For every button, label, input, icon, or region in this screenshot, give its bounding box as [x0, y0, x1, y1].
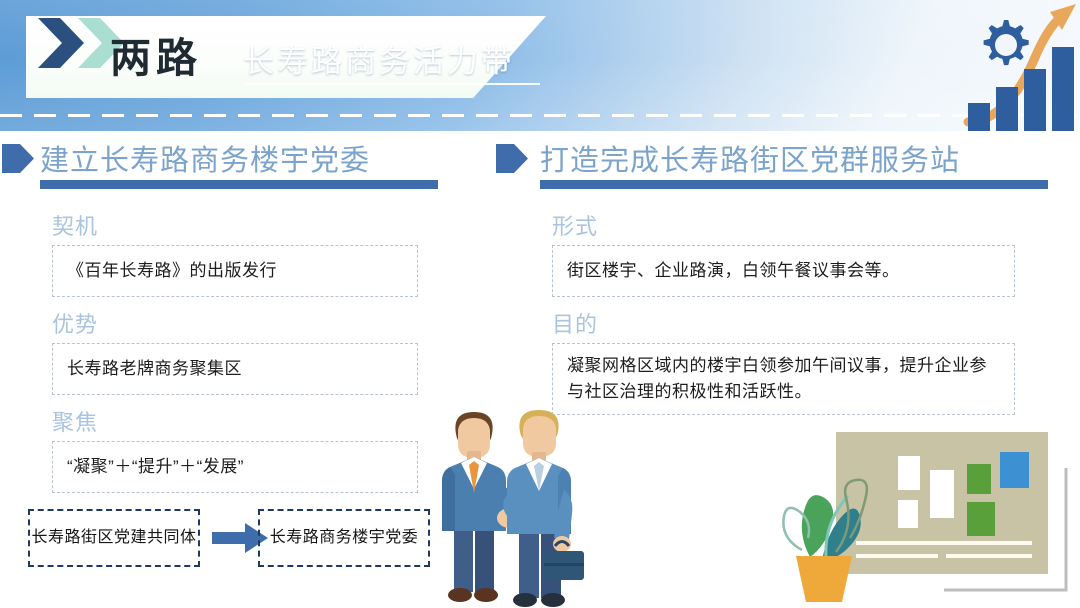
section-text-mude: 凝聚网格区域内的楼宇白领参加午间议事，提升企业参与社区治理的积极性和活跃性。	[553, 353, 1014, 406]
section-box-qiji: 《百年长寿路》的出版发行	[52, 245, 418, 297]
section-label-jujiao: 聚焦	[52, 405, 98, 437]
section-text-qiji: 《百年长寿路》的出版发行	[53, 258, 287, 284]
section-text-jujiao: “凝聚”＋“提升”＋“发展”	[53, 454, 254, 480]
arrow-bullet-icon	[2, 144, 34, 173]
column-left-heading: 建立长寿路商务楼宇党委	[40, 137, 438, 179]
arrow-bullet-icon	[496, 144, 528, 173]
two-businessmen-handshake-illustration	[424, 394, 609, 608]
header-subtitle-underline	[245, 83, 540, 85]
banner-title: 两路	[110, 24, 202, 84]
section-text-youshi: 长寿路老牌商务聚集区	[53, 356, 252, 382]
flow-box-to: 长寿路商务楼宇党委	[258, 509, 430, 567]
section-box-xingshi: 街区楼宇、企业路演，白领午餐议事会等。	[552, 245, 1015, 297]
section-label-youshi: 优势	[52, 307, 98, 339]
section-box-youshi: 长寿路老牌商务聚集区	[52, 343, 418, 395]
column-left-heading-underline	[40, 180, 438, 189]
column-right-heading-underline	[540, 180, 1048, 189]
slide-header: 两路 长寿路商务活力带	[0, 0, 1080, 131]
header-subtitle: 长寿路商务活力带	[243, 36, 515, 81]
section-label-qiji: 契机	[52, 209, 98, 241]
flow-box-from: 长寿路街区党建共同体	[28, 509, 200, 567]
section-label-xingshi: 形式	[552, 209, 598, 241]
section-box-mude: 凝聚网格区域内的楼宇白领参加午间议事，提升企业参与社区治理的积极性和活跃性。	[552, 343, 1015, 415]
column-left-heading-wrap: 建立长寿路商务楼宇党委	[40, 137, 438, 189]
section-label-mude: 目的	[552, 307, 598, 339]
column-right-heading-wrap: 打造完成长寿路街区党群服务站	[540, 137, 1048, 189]
section-box-jujiao: “凝聚”＋“提升”＋“发展”	[52, 441, 418, 493]
section-text-xingshi: 街区楼宇、企业路演，白领午餐议事会等。	[553, 258, 910, 284]
column-right-heading: 打造完成长寿路街区党群服务站	[540, 137, 1048, 179]
bulletin-board-with-sticky-notes-and-plant-illustration	[766, 410, 1080, 608]
slide-body: 建立长寿路商务楼宇党委 契机 《百年长寿路》的出版发行 优势 长寿路老牌商务聚集…	[0, 131, 1080, 608]
flow-diagram: 长寿路街区党建共同体 长寿路商务楼宇党委	[20, 509, 440, 571]
growth-chart-gear-icon	[890, 0, 1080, 131]
